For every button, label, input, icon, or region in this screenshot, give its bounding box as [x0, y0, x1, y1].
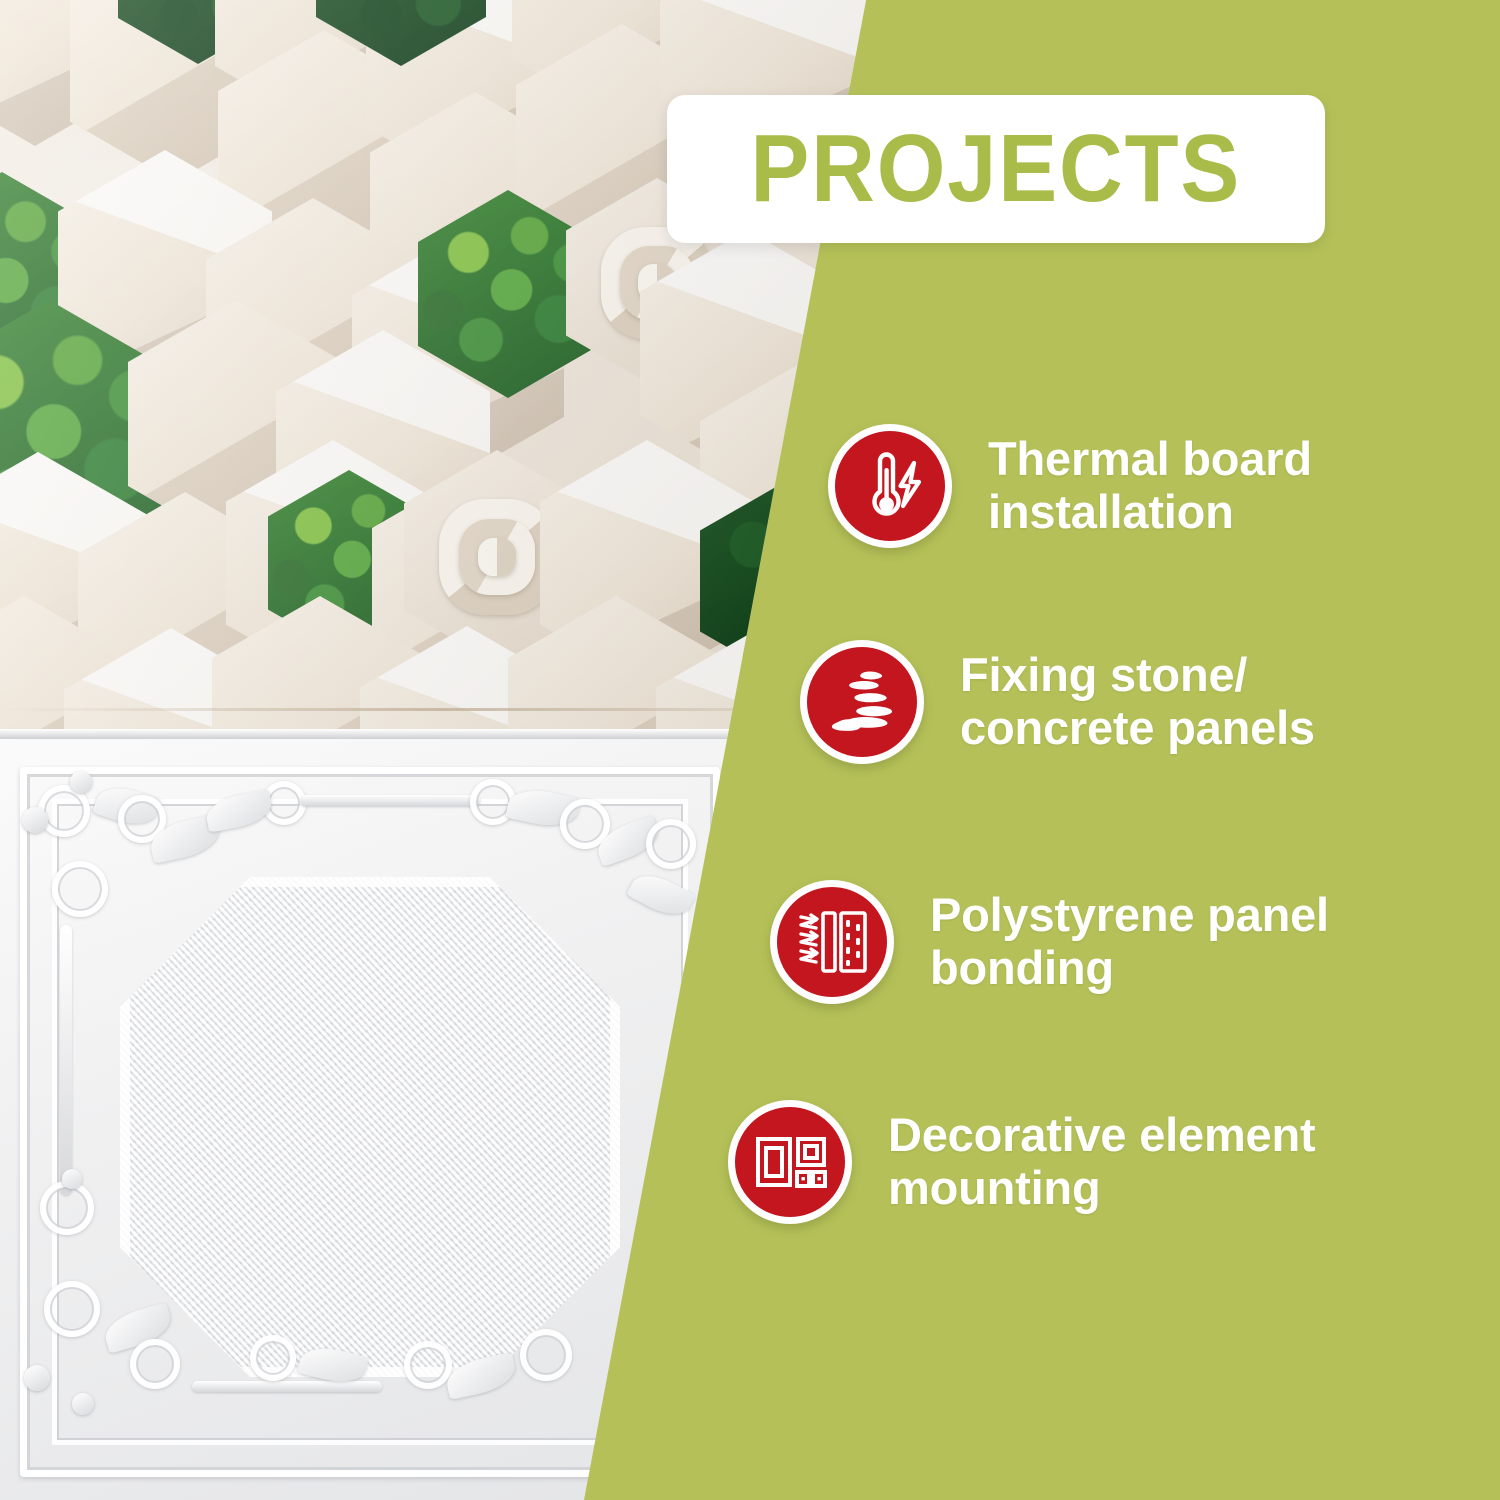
stacked-stones-icon	[800, 640, 924, 764]
feature-item-thermal-board[interactable]: Thermal board installation	[828, 424, 1312, 548]
page-title-card: PROJECTS	[667, 95, 1325, 243]
infographic-canvas: PROJECTS Thermal board installation	[0, 0, 1500, 1500]
feature-item-decorative-mounting[interactable]: Decorative element mounting	[728, 1100, 1315, 1224]
feature-item-fixing-stone[interactable]: Fixing stone/ concrete panels	[800, 640, 1315, 764]
thermometer-bolt-icon	[828, 424, 952, 548]
decorative-frames-icon	[728, 1100, 852, 1224]
feature-item-polystyrene-bonding[interactable]: Polystyrene panel bonding	[770, 880, 1329, 1004]
polystyrene-panel-adhesive-icon	[770, 880, 894, 1004]
feature-label: Thermal board installation	[988, 433, 1312, 538]
feature-label: Polystyrene panel bonding	[930, 889, 1329, 994]
feature-label: Decorative element mounting	[888, 1109, 1315, 1214]
feature-label: Fixing stone/ concrete panels	[960, 649, 1315, 754]
page-title: PROJECTS	[751, 121, 1242, 217]
